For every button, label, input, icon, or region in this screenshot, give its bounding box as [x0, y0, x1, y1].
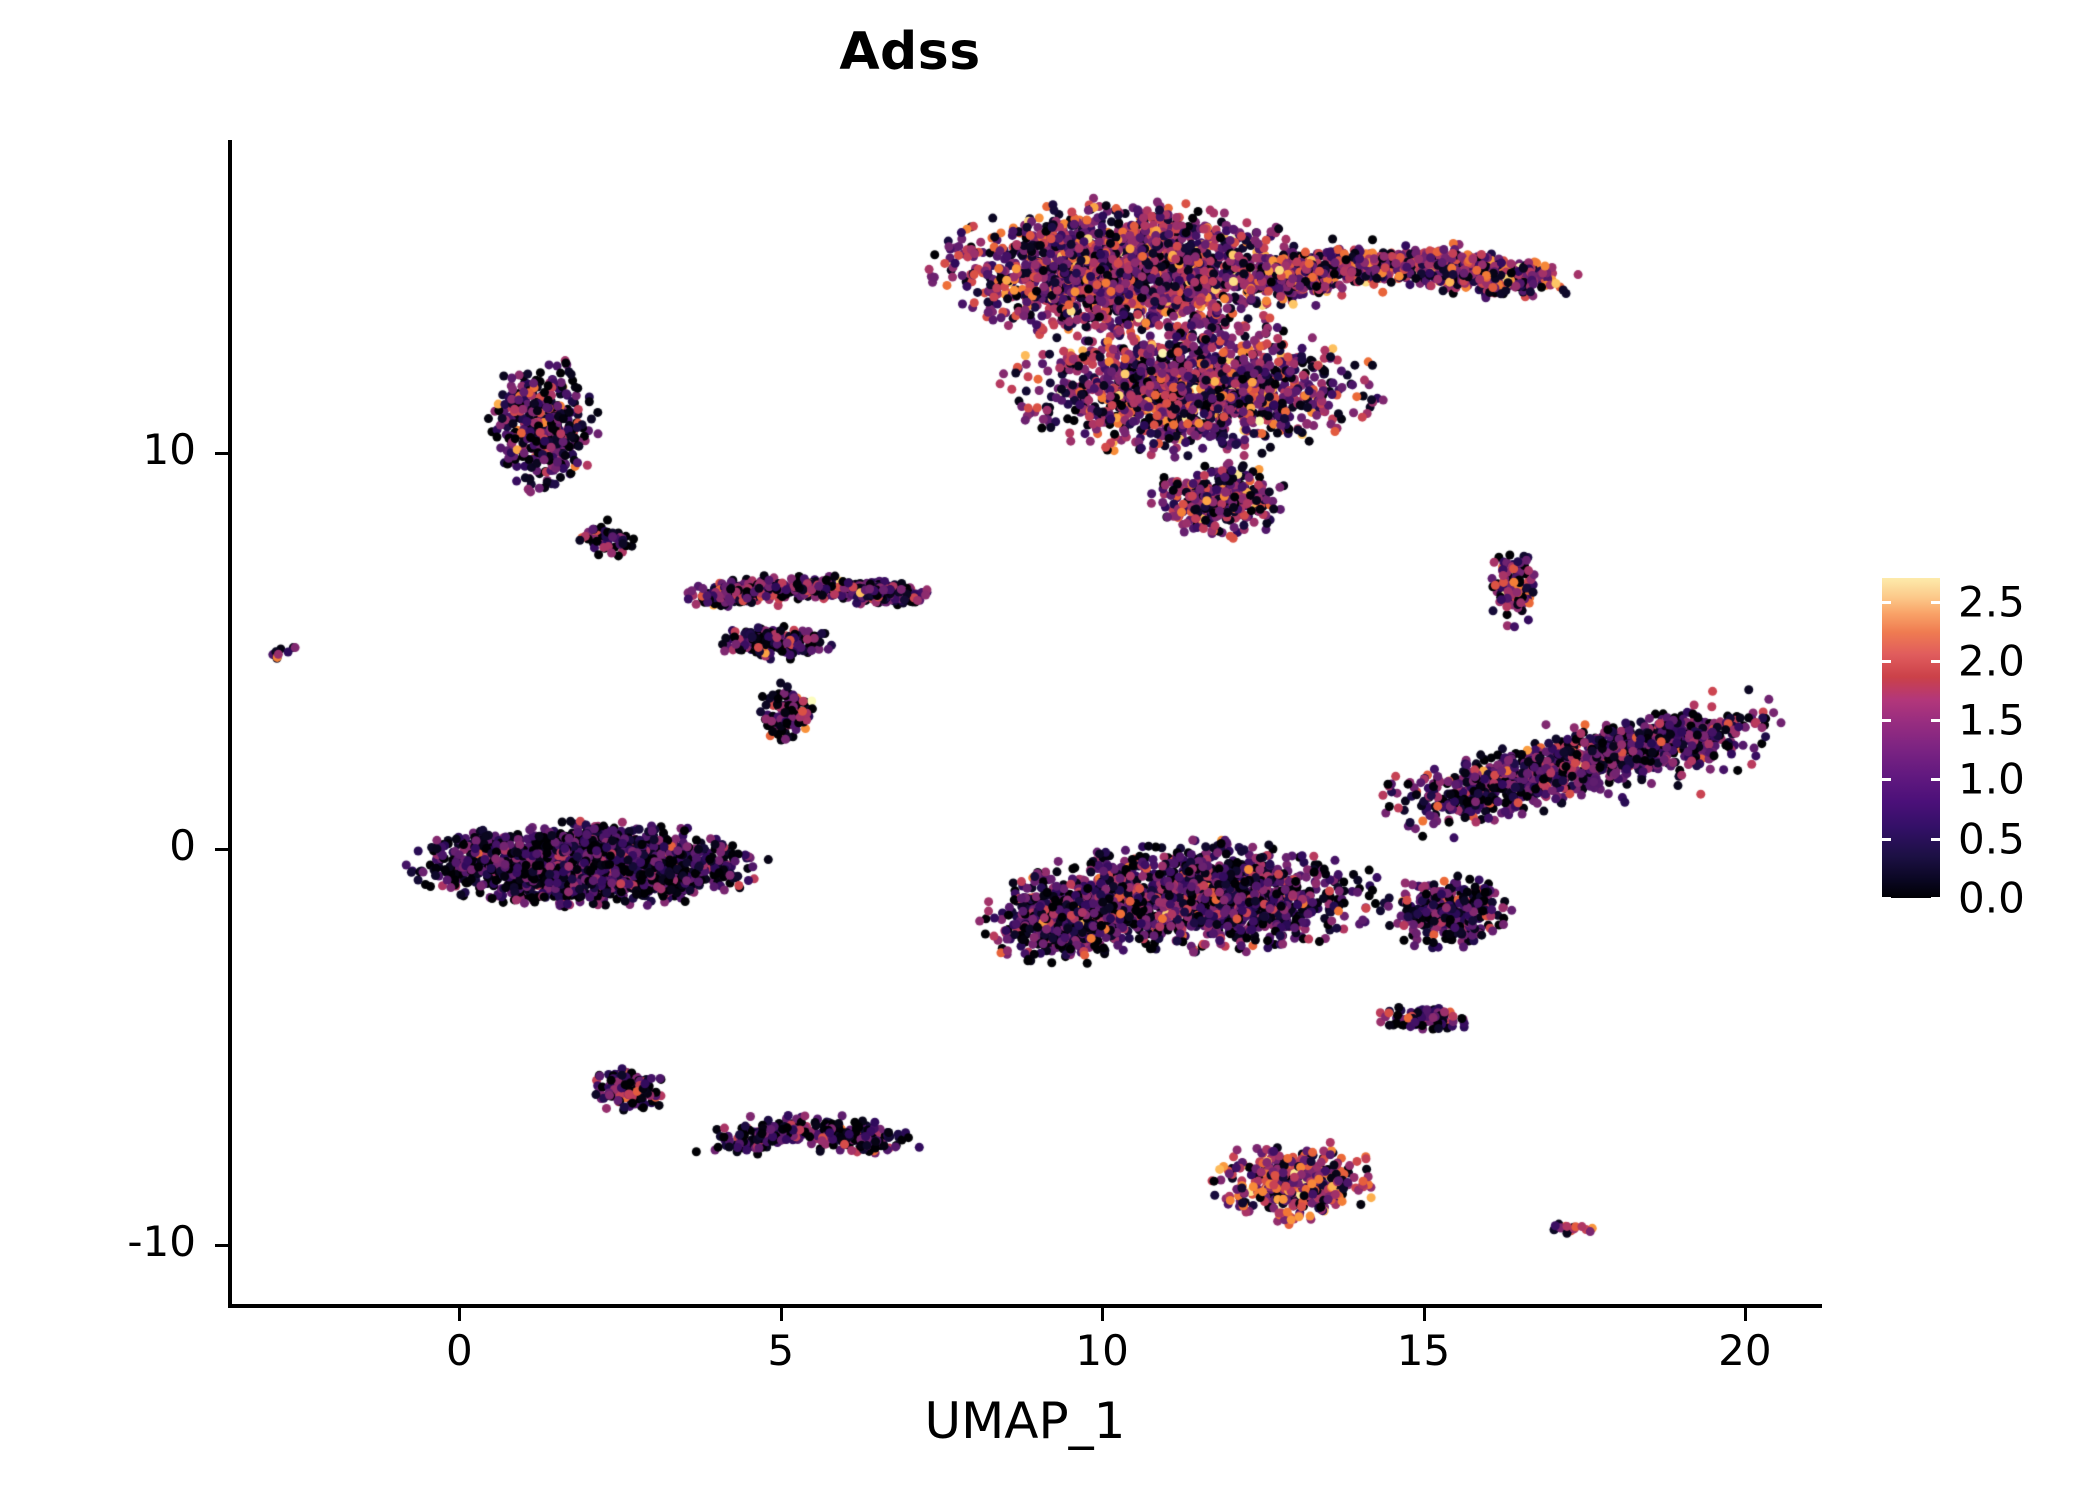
x-tick-mark — [458, 1308, 461, 1321]
colorbar-tick-mark — [1931, 601, 1940, 604]
x-tick-label: 15 — [1354, 1326, 1494, 1375]
figure-canvas: Adss -10010 05101520 UMAP_2 UMAP_1 0.00.… — [0, 0, 2100, 1500]
x-tick-label: 20 — [1675, 1326, 1815, 1375]
x-tick-mark — [1101, 1308, 1104, 1321]
colorbar-tick-mark — [1931, 897, 1940, 900]
colorbar: 0.00.51.01.52.02.5 — [1882, 578, 1940, 898]
colorbar-gradient — [1882, 578, 1940, 898]
y-tick-mark — [215, 1244, 228, 1247]
colorbar-tick-mark — [1882, 719, 1891, 722]
colorbar-tick-mark — [1931, 719, 1940, 722]
y-tick-mark — [215, 452, 228, 455]
x-axis-label: UMAP_1 — [228, 1392, 1822, 1450]
colorbar-tick-label: 2.0 — [1958, 636, 2025, 685]
x-tick-mark — [1744, 1308, 1747, 1321]
x-tick-mark — [1423, 1308, 1426, 1321]
colorbar-tick-label: 1.5 — [1958, 696, 2025, 745]
colorbar-tick-mark — [1882, 660, 1891, 663]
y-tick-label: 10 — [0, 425, 196, 474]
colorbar-tick-mark — [1882, 897, 1891, 900]
y-tick-label: 0 — [0, 821, 196, 870]
scatter-points-layer — [228, 140, 1822, 1308]
colorbar-tick-mark — [1882, 601, 1891, 604]
colorbar-tick-label: 0.5 — [1958, 814, 2025, 863]
colorbar-tick-label: 0.0 — [1958, 874, 2025, 923]
colorbar-tick-mark — [1882, 838, 1891, 841]
x-tick-label: 10 — [1032, 1326, 1172, 1375]
x-tick-label: 5 — [711, 1326, 851, 1375]
page-title: Adss — [0, 22, 1820, 82]
colorbar-tick-label: 2.5 — [1958, 577, 2025, 626]
x-tick-mark — [780, 1308, 783, 1321]
y-tick-mark — [215, 848, 228, 851]
colorbar-tick-label: 1.0 — [1958, 755, 2025, 804]
colorbar-tick-mark — [1882, 778, 1891, 781]
x-tick-label: 0 — [389, 1326, 529, 1375]
y-tick-label: -10 — [0, 1217, 196, 1266]
colorbar-tick-mark — [1931, 838, 1940, 841]
colorbar-tick-mark — [1931, 778, 1940, 781]
colorbar-tick-mark — [1931, 660, 1940, 663]
plot-axes — [228, 140, 1822, 1308]
